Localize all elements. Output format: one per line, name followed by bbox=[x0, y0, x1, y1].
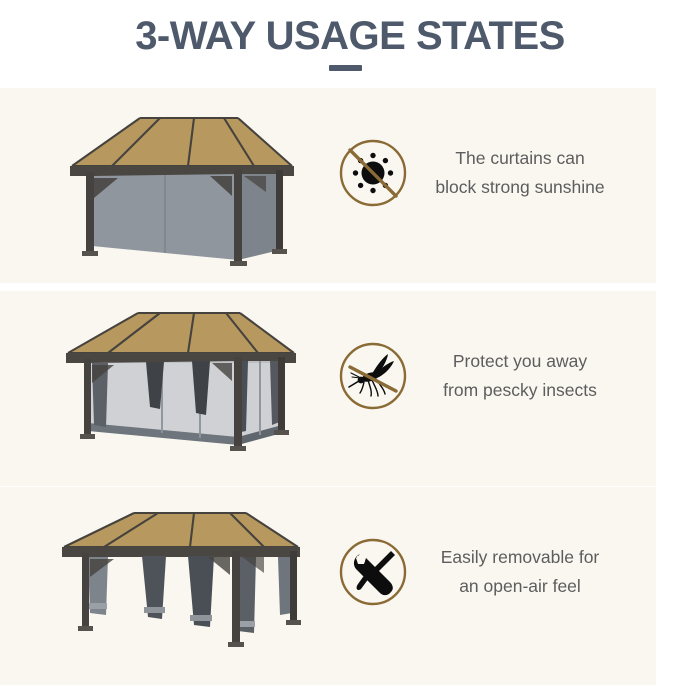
feature-text-line: from pescky insects bbox=[420, 376, 620, 405]
feature-text-line: block strong sunshine bbox=[420, 173, 620, 202]
feature-text-open-air: Easily removable for an open-air feel bbox=[420, 543, 620, 601]
feature-text-line: Easily removable for bbox=[420, 543, 620, 572]
feature-text-curtains-closed: The curtains can block strong sunshine bbox=[420, 144, 620, 202]
feature-text-line: an open-air feel bbox=[420, 572, 620, 601]
gazebo-image-netting bbox=[42, 291, 312, 486]
gazebo-image-curtains bbox=[42, 88, 312, 283]
no-mosquito-icon bbox=[338, 341, 408, 411]
tools-icon bbox=[338, 537, 408, 607]
feature-text-line: Protect you away bbox=[420, 347, 620, 376]
no-sun-icon bbox=[338, 138, 408, 208]
feature-row-mosquito-netting: Protect you away from pescky insects bbox=[0, 291, 656, 486]
title-divider bbox=[329, 65, 362, 71]
feature-text-mosquito-netting: Protect you away from pescky insects bbox=[420, 347, 620, 405]
feature-text-line: The curtains can bbox=[420, 144, 620, 173]
feature-row-curtains-closed: The curtains can block strong sunshine bbox=[0, 88, 656, 283]
feature-row-open-air: Easily removable for an open-air feel bbox=[0, 487, 656, 685]
page-title: 3-WAY USAGE STATES bbox=[0, 12, 700, 60]
page-header: 3-WAY USAGE STATES bbox=[0, 0, 700, 88]
gazebo-image-open-air bbox=[42, 487, 312, 682]
